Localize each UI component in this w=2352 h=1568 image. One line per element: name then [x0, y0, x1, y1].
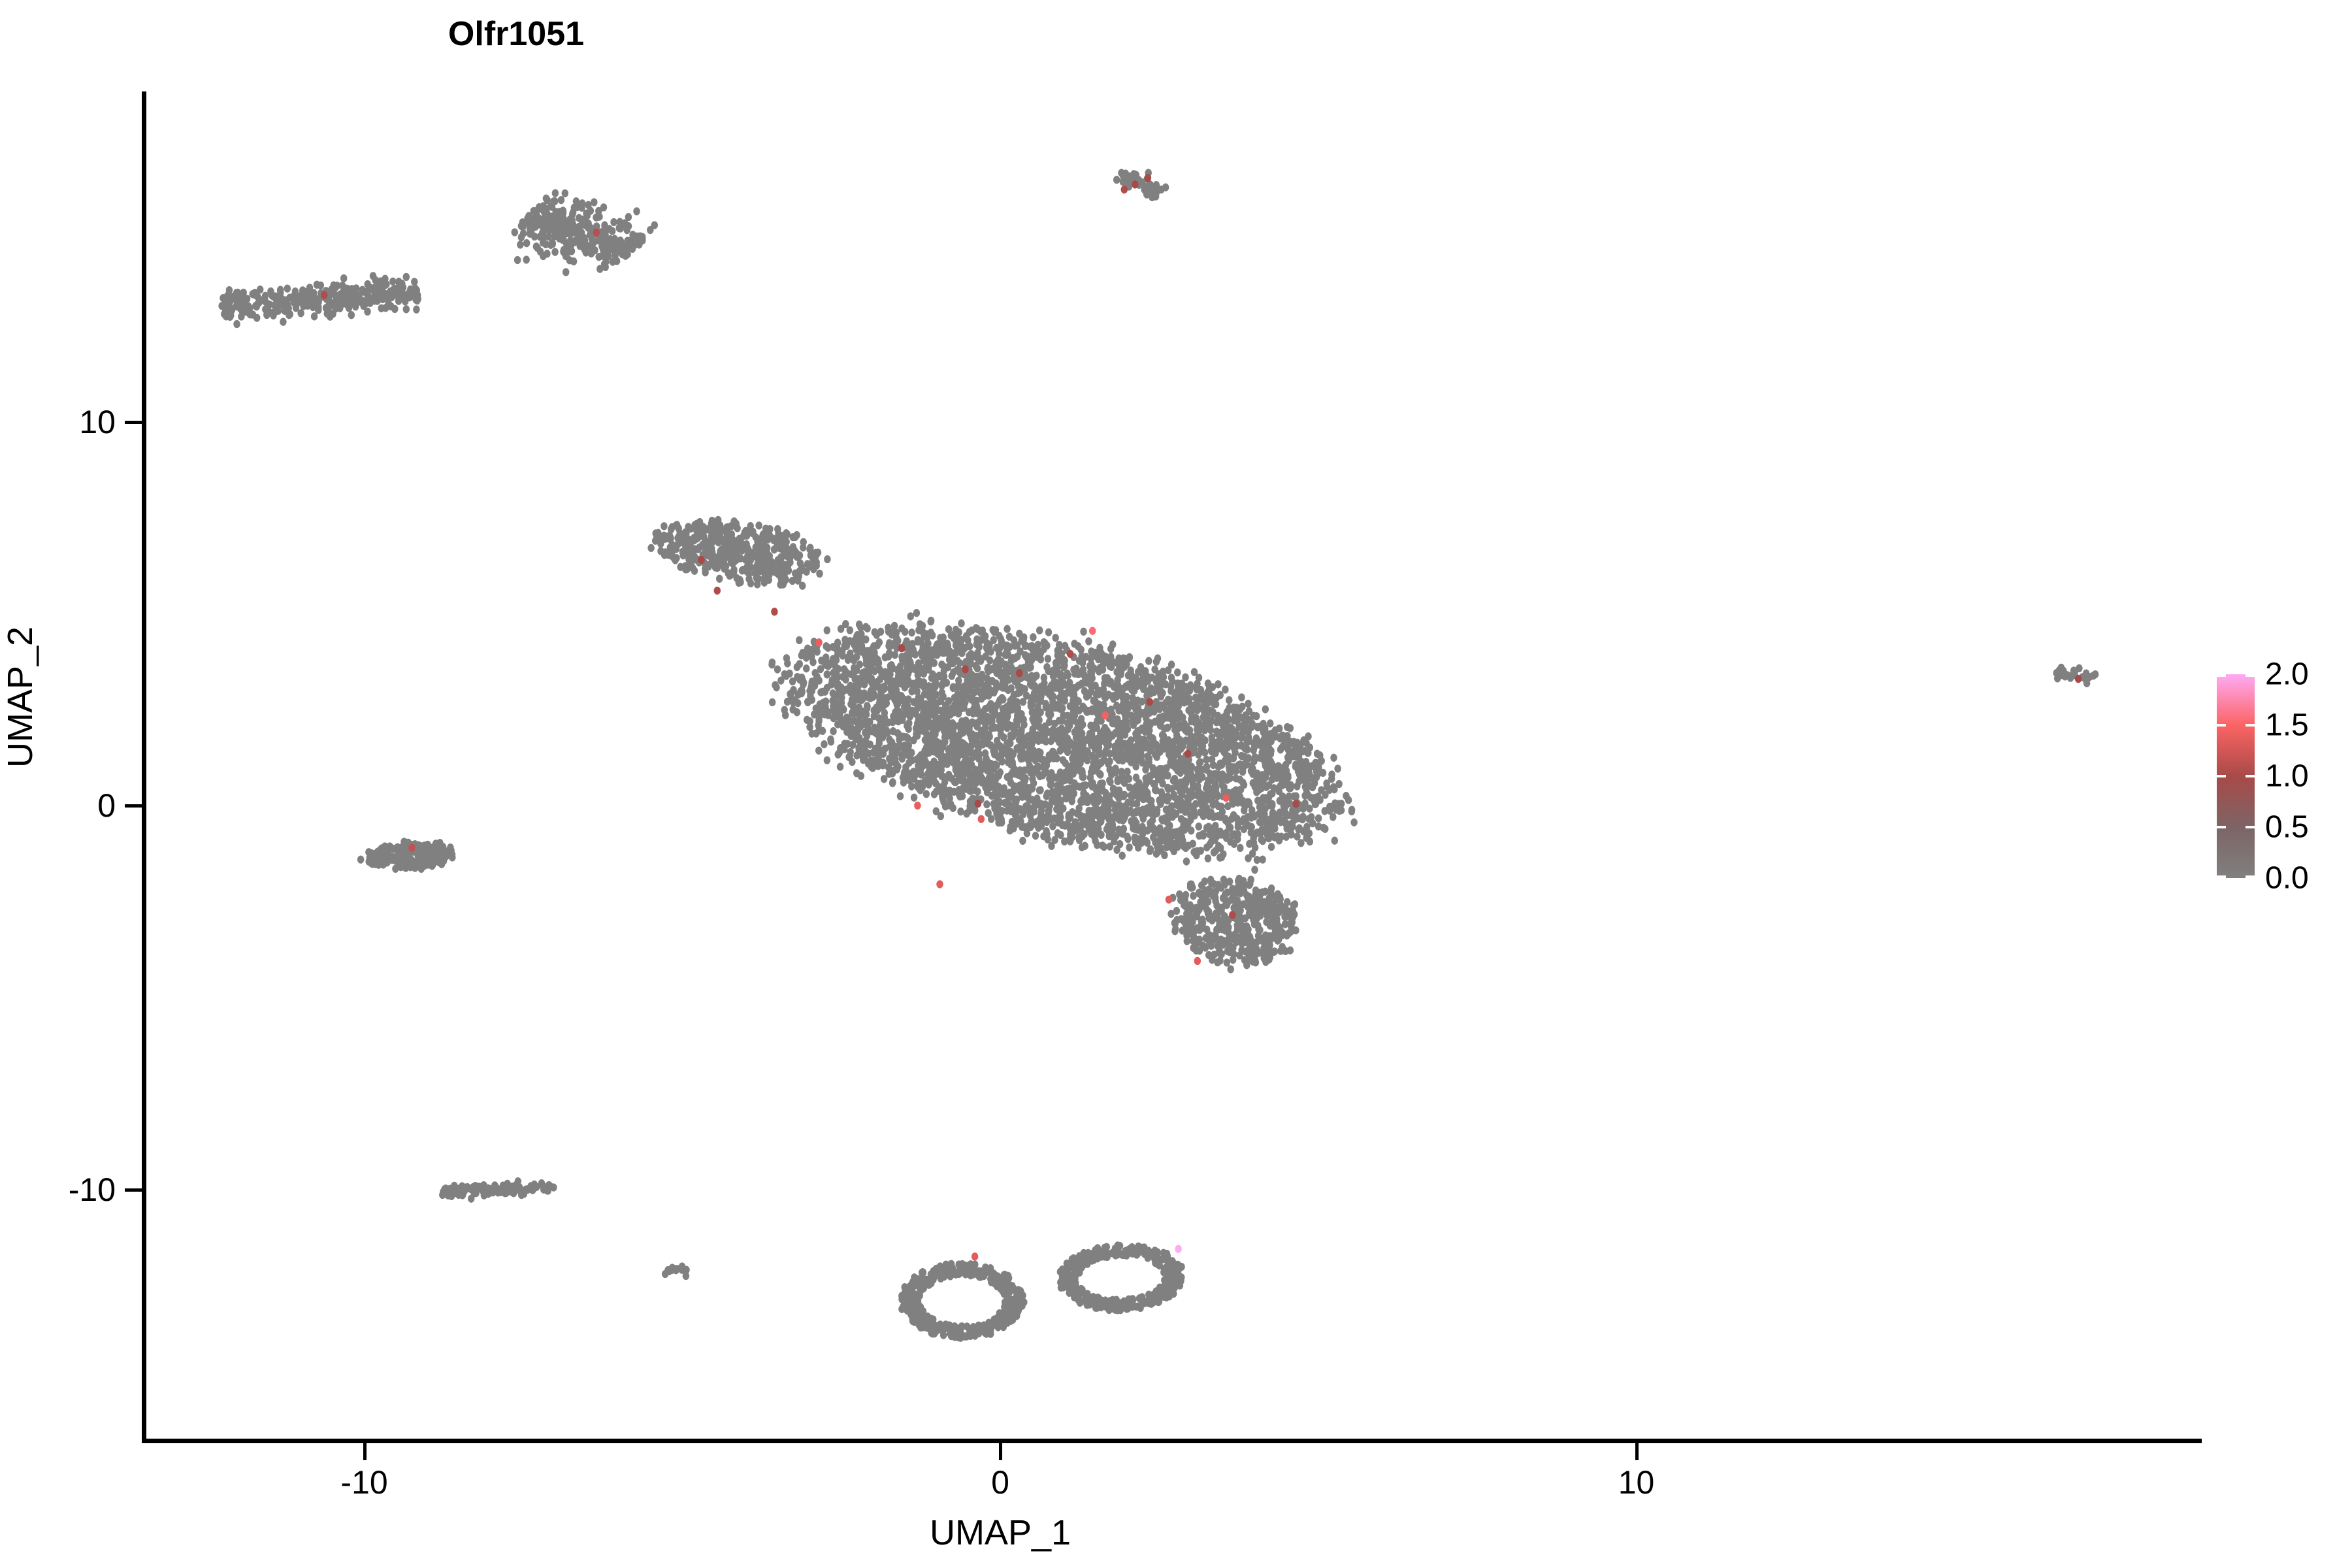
colorbar-tick-label: 1.5 — [2265, 708, 2309, 743]
plot-panel — [144, 91, 2202, 1441]
y-axis-line — [142, 91, 146, 1443]
colorbar-tick-label: 1.0 — [2265, 759, 2309, 794]
colorbar-tick-label: 2.0 — [2265, 657, 2309, 693]
x-tick-mark — [363, 1443, 367, 1460]
colorbar-tick-mark — [2246, 826, 2255, 828]
scatter-points-layer — [144, 91, 2202, 1441]
colorbar-tick-mark — [2217, 775, 2226, 777]
y-tick-label: -10 — [69, 1171, 116, 1209]
colorbar-tick-mark — [2217, 826, 2226, 828]
umap-figure: Olfr1051 100-10 -10010 UMAP_1 UMAP_2 0.0… — [0, 0, 2352, 1568]
colorbar-tick-label: 0.5 — [2265, 809, 2309, 845]
x-tick-mark — [999, 1443, 1002, 1460]
colorbar-tick-mark — [2246, 674, 2255, 677]
y-tick-label: 10 — [79, 403, 116, 441]
colorbar-tick-label: 0.0 — [2265, 860, 2309, 896]
y-tick-mark — [125, 1188, 142, 1192]
y-axis-title: UMAP_2 — [0, 627, 41, 768]
colorbar-tick-mark — [2217, 674, 2226, 677]
y-tick-label: 0 — [97, 787, 116, 825]
colorbar-tick-mark — [2246, 875, 2255, 878]
y-tick-mark — [125, 804, 142, 808]
x-tick-label: -10 — [340, 1463, 387, 1501]
x-tick-mark — [1635, 1443, 1639, 1460]
page-title: Olfr1051 — [0, 14, 1692, 54]
x-tick-label: 0 — [991, 1463, 1009, 1501]
y-tick-mark — [125, 421, 142, 424]
color-legend: 0.00.51.01.52.0 — [2217, 674, 2347, 878]
colorbar-tick-mark — [2217, 875, 2226, 878]
x-tick-label: 10 — [1618, 1463, 1655, 1501]
colorbar-tick-mark — [2246, 775, 2255, 777]
colorbar-tick-mark — [2217, 724, 2226, 727]
x-axis-line — [142, 1439, 2202, 1443]
x-axis-title: UMAP_1 — [930, 1512, 1071, 1553]
gray-points-group — [218, 169, 2099, 1341]
colorbar-tick-mark — [2246, 724, 2255, 727]
